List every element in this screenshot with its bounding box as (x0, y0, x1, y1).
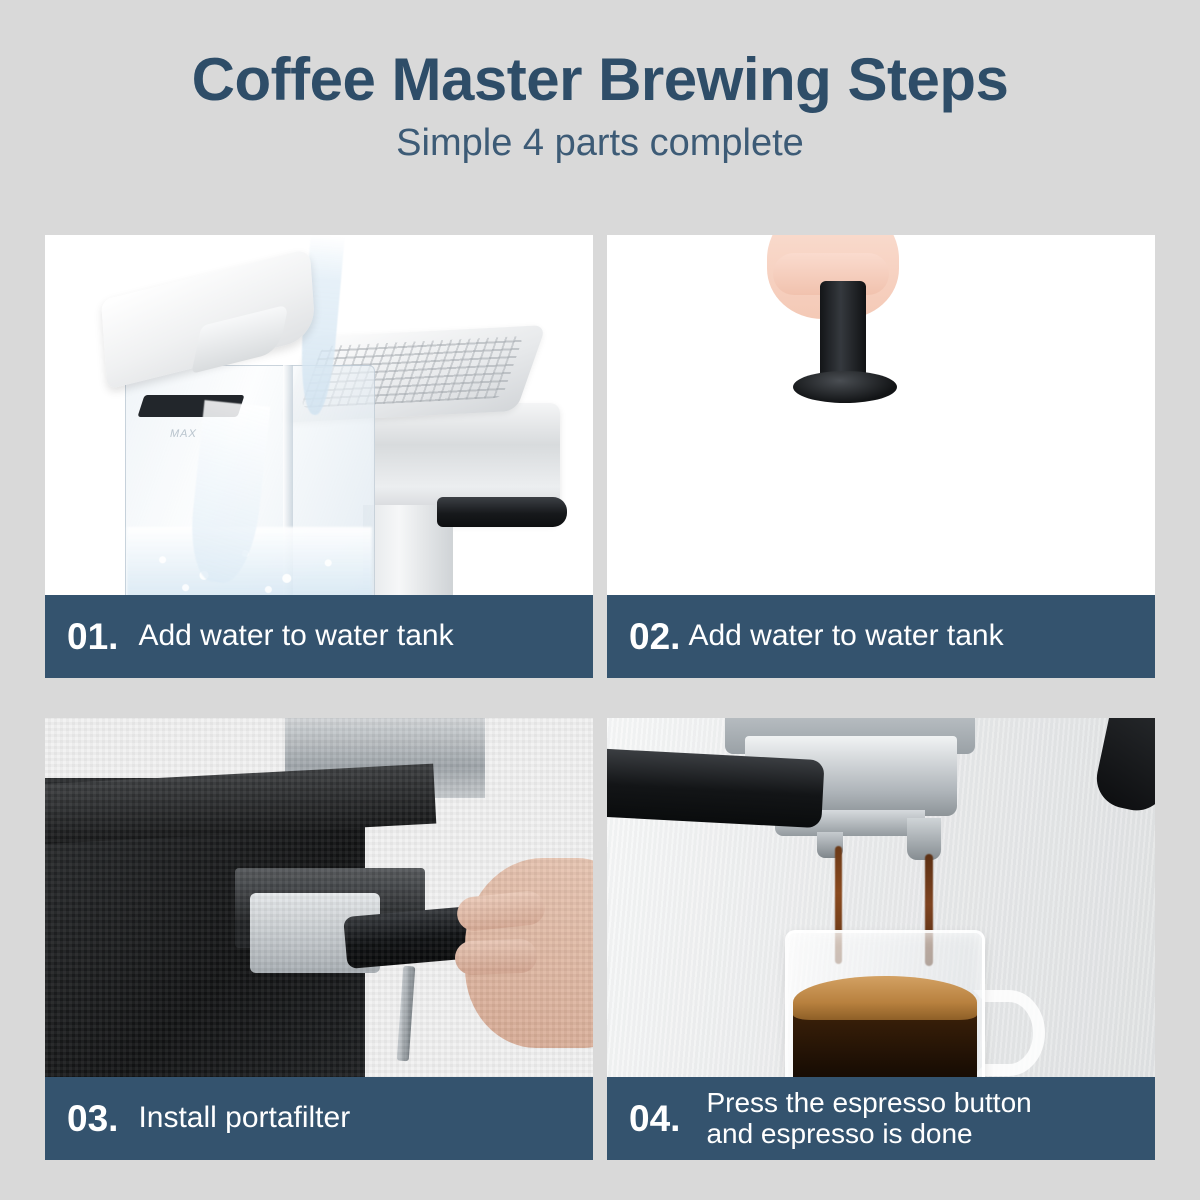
step-01-caption: 01. Add water to water tank (45, 595, 593, 678)
step-number-01: 01. (67, 618, 118, 655)
step-label-03: Install portafilter (138, 1102, 350, 1134)
steam-wand (437, 497, 567, 527)
spout-right (907, 818, 941, 860)
tamper-handle (820, 281, 866, 381)
step-label-04-line2: and espresso is done (706, 1119, 1031, 1149)
step-03-caption: 03. Install portafilter (45, 1077, 593, 1160)
portafilter-handle (607, 748, 825, 828)
step-label-01: Add water to water tank (138, 620, 453, 652)
step-card-01[interactable]: MAX 01. Add water to water tank (45, 235, 593, 678)
step-number-02: 02. (629, 618, 680, 655)
tamper-base (793, 371, 897, 403)
step-number-03: 03. (67, 1100, 118, 1137)
step-label-02: Add water to water tank (688, 620, 1003, 652)
finger-lower (454, 939, 537, 976)
step-label-04: Press the espresso button and espresso i… (706, 1088, 1031, 1148)
steps-grid: MAX 01. Add water to water tank (45, 235, 1155, 1160)
step-label-04-line1: Press the espresso button (706, 1088, 1031, 1118)
step-02-caption: 02. Add water to water tank (607, 595, 1155, 678)
water-tank-max-label: MAX (169, 428, 198, 440)
step-card-03[interactable]: 03. Install portafilter (45, 718, 593, 1160)
page-subtitle: Simple 4 parts complete (0, 123, 1200, 165)
espresso-crema (793, 976, 977, 1020)
page-header: Coffee Master Brewing Steps Simple 4 par… (0, 0, 1200, 165)
step-card-02[interactable]: 02. Add water to water tank (607, 235, 1155, 678)
step-04-caption: 04. Press the espresso button and espres… (607, 1077, 1155, 1160)
step-number-04: 04. (629, 1100, 680, 1137)
page-title: Coffee Master Brewing Steps (0, 48, 1200, 111)
step-card-04[interactable]: 04. Press the espresso button and espres… (607, 718, 1155, 1160)
